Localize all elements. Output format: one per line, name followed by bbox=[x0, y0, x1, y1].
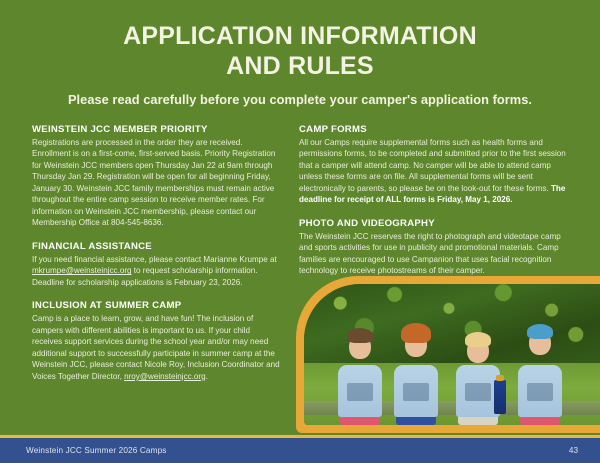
section-camp-forms: CAMP FORMS All our Camps require supplem… bbox=[299, 124, 571, 206]
page-footer: Weinstein JCC Summer 2026 Camps 43 bbox=[0, 435, 600, 463]
water-bottle bbox=[494, 380, 506, 414]
page-subtitle: Please read carefully before you complet… bbox=[0, 92, 600, 107]
footer-page-number: 43 bbox=[569, 446, 578, 455]
camper-1-shirt-logo bbox=[347, 383, 373, 401]
camper-3-hair bbox=[465, 332, 491, 347]
financial-email-link[interactable]: mkrumpe@weinsteinjcc.org bbox=[32, 266, 132, 275]
page-title-line-1: APPLICATION INFORMATION bbox=[40, 22, 560, 52]
section-heading-inclusion: INCLUSION AT SUMMER CAMP bbox=[32, 300, 282, 311]
right-column: CAMP FORMS All our Camps require supplem… bbox=[299, 124, 571, 289]
camper-2-hair bbox=[401, 323, 431, 343]
section-heading-photo-videography: PHOTO AND VIDEOGRAPHY bbox=[299, 218, 571, 229]
camp-forms-text: All our Camps require supplemental forms… bbox=[299, 138, 566, 193]
section-body-member-priority: Registrations are processed in the order… bbox=[32, 137, 282, 229]
footer-title: Weinstein JCC Summer 2026 Camps bbox=[26, 446, 167, 455]
financial-text-part-1: If you need financial assistance, please… bbox=[32, 255, 277, 264]
camper-photo bbox=[304, 284, 600, 425]
section-heading-member-priority: WEINSTEIN JCC MEMBER PRIORITY bbox=[32, 124, 282, 135]
inclusion-email-link[interactable]: nroy@weinsteinjcc.org bbox=[124, 372, 206, 381]
section-heading-camp-forms: CAMP FORMS bbox=[299, 124, 571, 135]
section-photo-videography: PHOTO AND VIDEOGRAPHY The Weinstein JCC … bbox=[299, 218, 571, 277]
section-member-priority: WEINSTEIN JCC MEMBER PRIORITY Registrati… bbox=[32, 124, 282, 229]
camper-3-shirt-logo bbox=[465, 383, 491, 401]
camper-4-hair bbox=[527, 324, 553, 339]
inclusion-text-part-2: . bbox=[206, 372, 208, 381]
section-body-photo-videography: The Weinstein JCC reserves the right to … bbox=[299, 231, 571, 277]
camper-2-shirt-logo bbox=[403, 383, 429, 401]
section-inclusion: INCLUSION AT SUMMER CAMP Camp is a place… bbox=[32, 300, 282, 382]
section-body-inclusion: Camp is a place to learn, grow, and have… bbox=[32, 313, 282, 382]
camper-4-shirt-logo bbox=[527, 383, 553, 401]
camper-1-hair bbox=[347, 328, 373, 343]
page-title: APPLICATION INFORMATION AND RULES bbox=[40, 22, 560, 81]
camper-photo-frame bbox=[296, 276, 600, 433]
section-heading-financial-assistance: FINANCIAL ASSISTANCE bbox=[32, 241, 282, 252]
camp-scene-illustration bbox=[304, 284, 600, 425]
section-body-camp-forms: All our Camps require supplemental forms… bbox=[299, 137, 571, 206]
page-header: APPLICATION INFORMATION AND RULES Please… bbox=[0, 0, 600, 107]
page-title-line-2: AND RULES bbox=[40, 52, 560, 82]
section-financial-assistance: FINANCIAL ASSISTANCE If you need financi… bbox=[32, 241, 282, 288]
left-column: WEINSTEIN JCC MEMBER PRIORITY Registrati… bbox=[32, 124, 282, 394]
trees-background bbox=[304, 284, 600, 371]
section-body-financial-assistance: If you need financial assistance, please… bbox=[32, 254, 282, 288]
